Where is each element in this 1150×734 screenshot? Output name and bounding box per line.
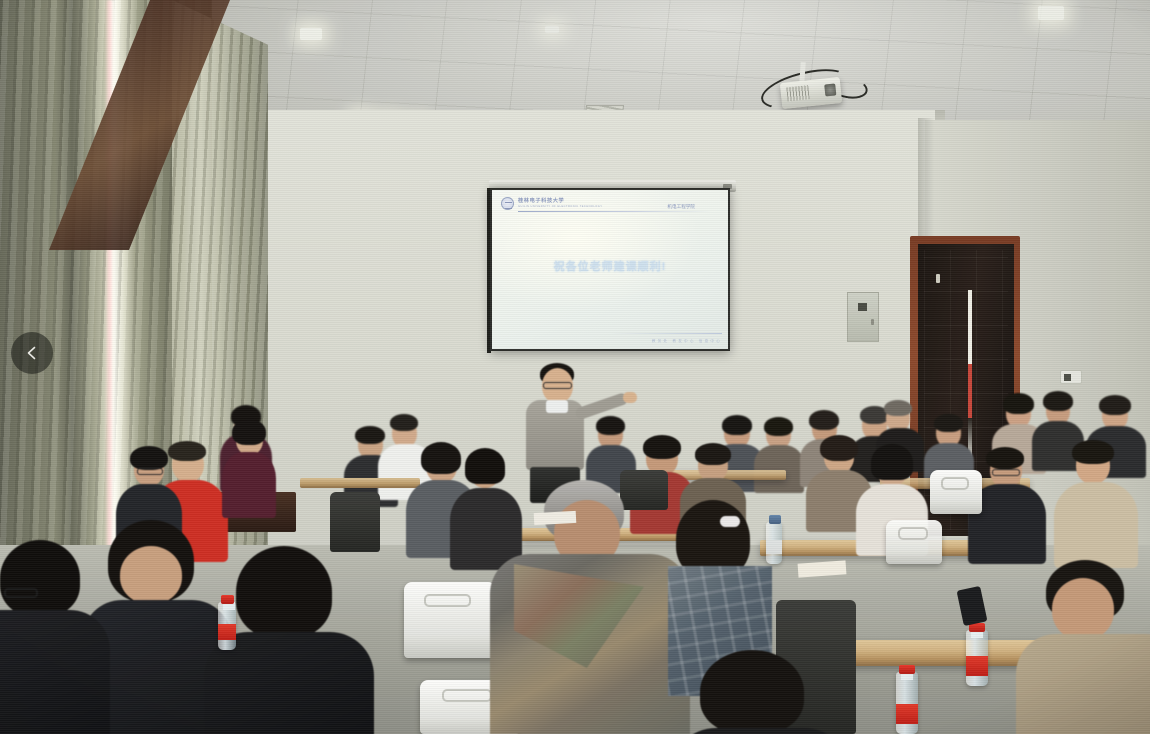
person-hair (1099, 395, 1131, 415)
person-hair (421, 442, 461, 474)
person-glasses (4, 588, 38, 598)
water-bottle (218, 602, 236, 650)
water-bottle (896, 672, 918, 734)
bottle-cap (769, 515, 781, 524)
person-hair (643, 435, 681, 459)
door-hardware (936, 274, 940, 283)
person-head (1052, 578, 1114, 640)
bottle-label (766, 540, 782, 554)
person-hair (465, 448, 505, 484)
slide-footer-text: 教务处 教发中心 信息中心 (652, 339, 722, 344)
water-bottle (766, 522, 782, 564)
bottle-cap (899, 665, 915, 674)
ceiling-light-fixture (1038, 6, 1064, 20)
stacking-chair (404, 582, 496, 658)
person-hair (871, 444, 913, 480)
person-hair (809, 410, 839, 430)
person-torso (754, 445, 804, 493)
presenter-glasses (543, 382, 572, 389)
person-head (120, 546, 182, 604)
stacking-chair (930, 470, 982, 514)
wall-electrical-panel (847, 292, 879, 342)
classroom-desk (300, 478, 420, 488)
person-hair (1043, 391, 1073, 411)
person-hair (695, 443, 731, 465)
person-hair (236, 546, 332, 638)
presenter-collar (546, 400, 568, 413)
person-hair (168, 441, 206, 461)
previous-image-button[interactable] (11, 332, 53, 374)
person-hair (232, 419, 266, 445)
stacking-chair (886, 520, 942, 564)
person-torso (1016, 634, 1150, 734)
person-hair (390, 414, 418, 431)
slide-university-name: 桂林电子科技大学 (518, 197, 564, 204)
presenter-hand (623, 392, 637, 403)
water-bottle (966, 630, 988, 686)
projector-lens (824, 83, 836, 96)
person-hair (884, 400, 912, 416)
person-hair (130, 446, 168, 470)
projection-screen: 桂林电子科技大学 GUILIN UNIVERSITY OF ELECTRONIC… (490, 188, 730, 351)
person-hair (596, 416, 625, 435)
person-hair (722, 415, 752, 435)
person-torso (222, 452, 276, 518)
slide-university-name-en: GUILIN UNIVERSITY OF ELECTRONIC TECHNOLO… (518, 205, 602, 208)
slide-title: 祝各位老师建课顺利! (492, 258, 728, 274)
person-torso (0, 610, 110, 734)
photo-viewer: 桂林电子科技大学 GUILIN UNIVERSITY OF ELECTRONIC… (0, 0, 1150, 734)
person-hair (355, 426, 385, 444)
person-hair (934, 414, 963, 432)
bottle-cap (221, 595, 234, 604)
ceiling-light-fixture (300, 28, 322, 40)
person-glasses (992, 469, 1020, 476)
person-glasses (137, 468, 163, 475)
bottle-label (896, 704, 918, 724)
wall-light-switch (1060, 370, 1082, 384)
projector-vent (786, 85, 809, 101)
slide-footer-rule (610, 333, 722, 334)
bottle-label (218, 624, 236, 640)
person-torso (1054, 482, 1138, 568)
slide-department-name: 机电工程学院 (667, 204, 695, 210)
stacking-chair (330, 492, 380, 552)
notebook (534, 511, 577, 525)
person-hair (986, 447, 1024, 469)
stacking-chair (620, 470, 668, 510)
person-hair (764, 417, 793, 436)
photograph: 桂林电子科技大学 GUILIN UNIVERSITY OF ELECTRONIC… (0, 0, 1150, 734)
person-hair (700, 650, 804, 734)
person-hair (820, 435, 858, 461)
ceiling-light-fixture (545, 26, 559, 33)
hair-bow (720, 516, 740, 527)
university-logo-icon (501, 197, 514, 210)
slide-header-rule (518, 211, 712, 212)
bottle-label (966, 656, 988, 676)
person-hair (0, 540, 80, 616)
chevron-left-icon (24, 345, 40, 361)
slide-header: 桂林电子科技大学 GUILIN UNIVERSITY OF ELECTRONIC… (501, 197, 720, 213)
person-hair (1003, 393, 1034, 414)
person-hair (1072, 440, 1114, 464)
